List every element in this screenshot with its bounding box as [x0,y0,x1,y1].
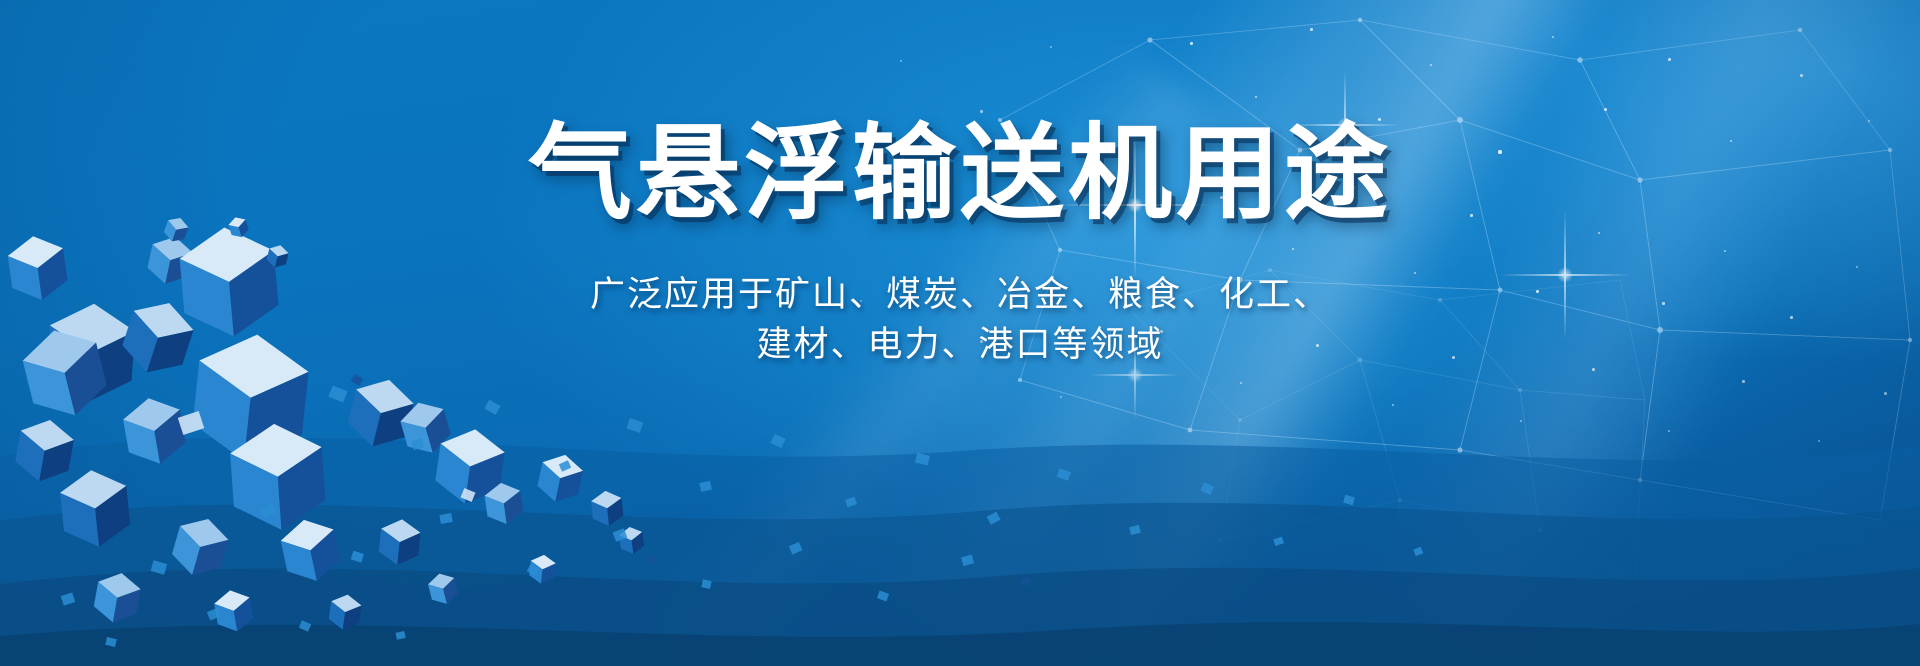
subtitle-line-2: 建材、电力、港口等领域 [590,320,1330,370]
banner-text-block: 气悬浮输送机用途 广泛应用于矿山、煤炭、冶金、粮食、化工、 建材、电力、港口等领… [0,0,1920,666]
banner-subtitle: 广泛应用于矿山、煤炭、冶金、粮食、化工、 建材、电力、港口等领域 [590,270,1330,369]
page-title: 气悬浮输送机用途 [528,118,1392,230]
subtitle-line-1: 广泛应用于矿山、煤炭、冶金、粮食、化工、 [590,270,1330,320]
hero-banner: 气悬浮输送机用途 广泛应用于矿山、煤炭、冶金、粮食、化工、 建材、电力、港口等领… [0,0,1920,666]
